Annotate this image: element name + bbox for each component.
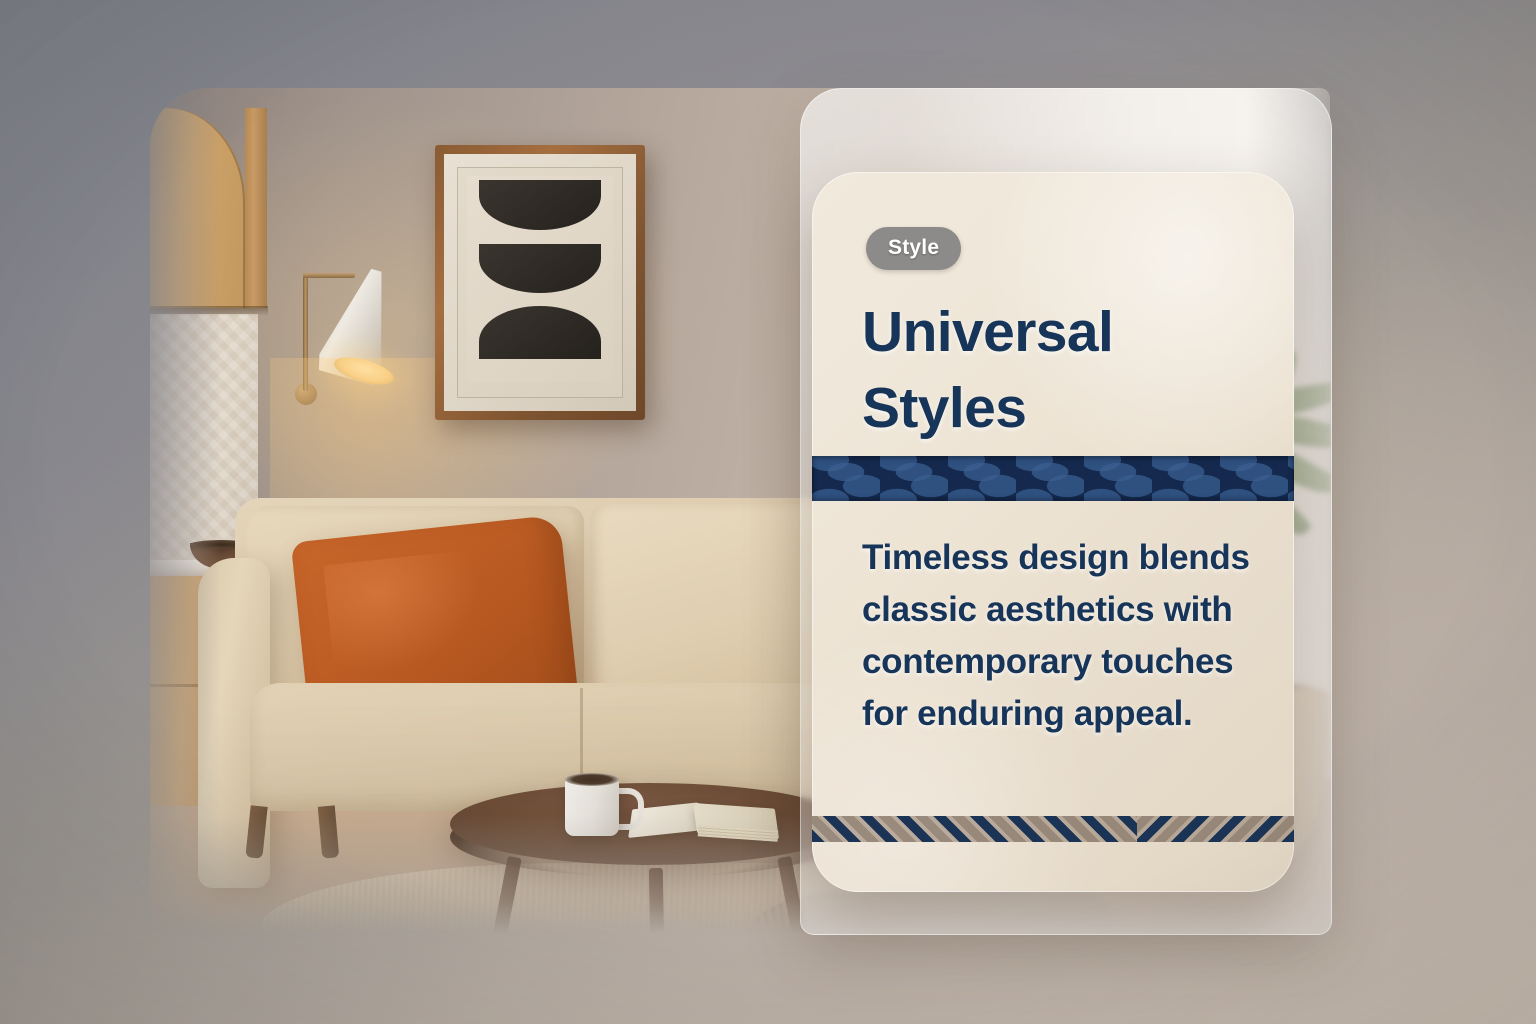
mug-rim: [565, 773, 619, 786]
card-title: Universal Styles: [862, 294, 1254, 446]
cabinet-shadow: [150, 306, 268, 316]
pillow-highlight: [323, 550, 484, 675]
art-shape-semicircle-middle: [479, 244, 602, 293]
art-canvas: [467, 176, 613, 382]
coffee-mug: [565, 778, 619, 836]
chevron-stripe-divider: [812, 816, 1294, 842]
wave-pattern-divider: [812, 456, 1294, 501]
card-body-text: Timeless design blends classic aesthetic…: [862, 532, 1268, 740]
framed-art: [435, 145, 645, 420]
table-leg: [649, 868, 665, 933]
status-badge: Style: [866, 227, 961, 270]
art-shape-semicircle-top: [479, 180, 602, 229]
scene-root: Style Universal Styles Timeless design b…: [0, 0, 1536, 1024]
stripe-segment-left: [812, 816, 1137, 842]
sconce-arm-vertical: [303, 273, 308, 391]
stripe-segment-right: [1137, 816, 1294, 842]
sconce-arm-horizontal: [303, 273, 355, 278]
art-shape-semicircle-bottom: [479, 306, 602, 360]
style-info-card[interactable]: Style Universal Styles Timeless design b…: [812, 172, 1294, 892]
cabinet-side-panel: [245, 108, 267, 308]
